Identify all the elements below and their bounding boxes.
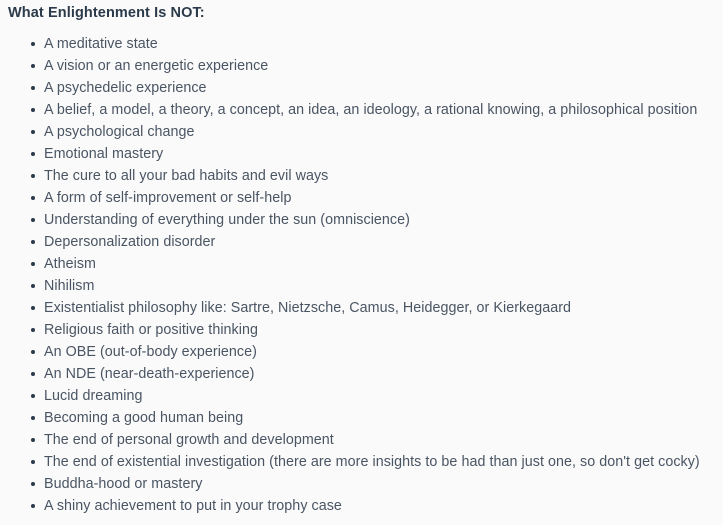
bullet-icon xyxy=(31,196,35,200)
list-item-label: Nihilism xyxy=(44,278,94,294)
bullet-icon xyxy=(31,372,35,376)
list-item: An NDE (near-death-experience) xyxy=(0,363,723,385)
bullet-icon xyxy=(31,42,35,46)
list-item-label: A belief, a model, a theory, a concept, … xyxy=(44,102,697,118)
bullet-icon xyxy=(31,152,35,156)
list-item-label: The cure to all your bad habits and evil… xyxy=(44,168,328,184)
list-item-label: Emotional mastery xyxy=(44,146,163,162)
list-item: Atheism xyxy=(0,253,723,275)
bullet-icon xyxy=(31,350,35,354)
bullet-icon xyxy=(31,174,35,178)
list-item: Buddha-hood or mastery xyxy=(0,473,723,495)
list-item: A psychological change xyxy=(0,121,723,143)
document-page: What Enlightenment Is NOT: A meditative … xyxy=(0,0,723,525)
list-item: A vision or an energetic experience xyxy=(0,55,723,77)
list-item: Depersonalization disorder xyxy=(0,231,723,253)
list-item: Understanding of everything under the su… xyxy=(0,209,723,231)
list-item-label: Existentialist philosophy like: Sartre, … xyxy=(44,300,571,316)
bullet-icon xyxy=(31,108,35,112)
list-item: A psychedelic experience xyxy=(0,77,723,99)
bullet-icon xyxy=(31,482,35,486)
list-item-label: Religious faith or positive thinking xyxy=(44,322,258,338)
list-item: Becoming a good human being xyxy=(0,407,723,429)
list-item-label: A form of self-improvement or self-help xyxy=(44,190,291,206)
list-item: Existentialist philosophy like: Sartre, … xyxy=(0,297,723,319)
list-item-label: Becoming a good human being xyxy=(44,410,243,426)
list-item: The end of existential investigation (th… xyxy=(0,451,723,473)
list-item-label: Buddha-hood or mastery xyxy=(44,476,202,492)
list-item-label: The end of existential investigation (th… xyxy=(44,454,700,470)
bullet-icon xyxy=(31,394,35,398)
bullet-icon xyxy=(31,64,35,68)
list-item: An OBE (out-of-body experience) xyxy=(0,341,723,363)
list-item-label: Atheism xyxy=(44,256,96,272)
list-item-label: A psychedelic experience xyxy=(44,80,207,96)
list-item: Emotional mastery xyxy=(0,143,723,165)
page-title: What Enlightenment Is NOT: xyxy=(8,3,205,23)
enlightenment-not-list: A meditative stateA vision or an energet… xyxy=(0,33,723,517)
list-item-label: Depersonalization disorder xyxy=(44,234,215,250)
bullet-icon xyxy=(31,284,35,288)
list-item-label: An NDE (near-death-experience) xyxy=(44,366,255,382)
list-item-label: The end of personal growth and developme… xyxy=(44,432,334,448)
bullet-icon xyxy=(31,438,35,442)
list-item-label: A psychological change xyxy=(44,124,195,140)
list-item: A belief, a model, a theory, a concept, … xyxy=(0,99,723,121)
list-item: Religious faith or positive thinking xyxy=(0,319,723,341)
list-item: Nihilism xyxy=(0,275,723,297)
list-item-label: A meditative state xyxy=(44,36,158,52)
bullet-icon xyxy=(31,328,35,332)
bullet-icon xyxy=(31,416,35,420)
bullet-icon xyxy=(31,240,35,244)
list-item-label: A vision or an energetic experience xyxy=(44,58,268,74)
bullet-icon xyxy=(31,130,35,134)
bullet-icon xyxy=(31,460,35,464)
list-item-label: Understanding of everything under the su… xyxy=(44,212,410,228)
bullet-icon xyxy=(31,86,35,90)
list-item: Lucid dreaming xyxy=(0,385,723,407)
list-item: A meditative state xyxy=(0,33,723,55)
list-item: A form of self-improvement or self-help xyxy=(0,187,723,209)
list-item: The end of personal growth and developme… xyxy=(0,429,723,451)
bullet-icon xyxy=(31,262,35,266)
bullet-icon xyxy=(31,218,35,222)
list-item-label: A shiny achievement to put in your troph… xyxy=(44,498,342,514)
bullet-icon xyxy=(31,504,35,508)
list-item: A shiny achievement to put in your troph… xyxy=(0,495,723,517)
bullet-icon xyxy=(31,306,35,310)
list-item-label: An OBE (out-of-body experience) xyxy=(44,344,257,360)
list-item-label: Lucid dreaming xyxy=(44,388,142,404)
list-item: The cure to all your bad habits and evil… xyxy=(0,165,723,187)
